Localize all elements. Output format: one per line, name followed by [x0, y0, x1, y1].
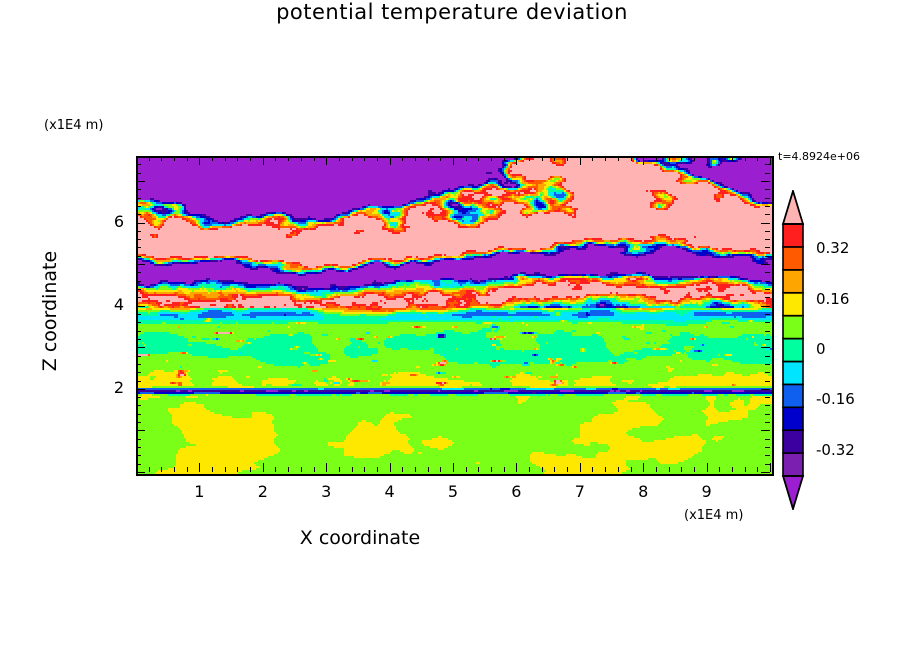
y-minor-tick-right: [765, 297, 770, 298]
timestamp-annotation: t=4.8924e+06: [778, 150, 860, 163]
y-major-tick-right: [761, 264, 770, 265]
y-minor-tick: [136, 364, 141, 365]
x-minor-tick: [656, 467, 657, 472]
x-minor-tick: [288, 467, 289, 472]
x-major-tick-top: [516, 156, 517, 165]
x-minor-tick: [554, 467, 555, 472]
x-major-tick: [643, 463, 644, 472]
x-minor-tick-top: [681, 156, 682, 161]
y-minor-tick-right: [765, 256, 770, 257]
y-minor-tick: [136, 447, 141, 448]
y-minor-tick-right: [765, 289, 770, 290]
x-minor-tick-top: [656, 156, 657, 161]
x-minor-tick-top: [440, 156, 441, 161]
y-minor-tick: [136, 397, 141, 398]
x-major-tick: [263, 463, 264, 472]
y-minor-tick-right: [765, 173, 770, 174]
x-minor-tick: [491, 467, 492, 472]
y-minor-tick: [136, 247, 141, 248]
x-minor-tick: [542, 467, 543, 472]
x-minor-tick: [415, 467, 416, 472]
y-minor-tick-right: [765, 405, 770, 406]
x-minor-tick: [149, 467, 150, 472]
y-major-tick: [136, 181, 145, 182]
y-minor-tick-right: [765, 198, 770, 199]
y-minor-tick: [136, 173, 141, 174]
x-minor-tick-top: [542, 156, 543, 161]
y-minor-tick-right: [765, 422, 770, 423]
y-major-tick-right: [761, 223, 770, 224]
y-minor-tick-right: [765, 281, 770, 282]
x-minor-tick-top: [592, 156, 593, 161]
y-major-tick-right: [761, 472, 770, 473]
x-minor-tick: [592, 467, 593, 472]
x-minor-tick-top: [605, 156, 606, 161]
x-minor-tick: [681, 467, 682, 472]
x-tick-label: 1: [179, 482, 219, 501]
colorbar-tick-label: -0.16: [816, 390, 855, 408]
y-major-tick: [136, 347, 145, 348]
x-minor-tick: [504, 467, 505, 472]
x-minor-tick-top: [554, 156, 555, 161]
y-minor-tick-right: [765, 464, 770, 465]
x-minor-tick: [618, 467, 619, 472]
x-minor-tick: [187, 467, 188, 472]
y-minor-tick: [136, 297, 141, 298]
x-major-tick-top: [199, 156, 200, 165]
x-major-tick-top: [770, 156, 771, 165]
x-minor-tick: [402, 467, 403, 472]
x-minor-tick-top: [732, 156, 733, 161]
x-minor-tick-top: [314, 156, 315, 161]
y-minor-tick: [136, 464, 141, 465]
y-minor-tick-right: [765, 364, 770, 365]
x-major-tick: [770, 463, 771, 472]
y-tick-label: 6: [84, 212, 124, 231]
y-minor-tick-right: [765, 331, 770, 332]
x-minor-tick: [732, 467, 733, 472]
y-minor-tick-right: [765, 272, 770, 273]
x-minor-tick: [174, 467, 175, 472]
x-minor-tick-top: [212, 156, 213, 161]
y-minor-tick-right: [765, 455, 770, 456]
x-minor-tick: [745, 467, 746, 472]
y-minor-tick: [136, 289, 141, 290]
x-major-tick: [516, 463, 517, 472]
y-minor-tick: [136, 214, 141, 215]
x-minor-tick-top: [478, 156, 479, 161]
y-minor-tick-right: [765, 372, 770, 373]
x-major-tick: [199, 463, 200, 472]
y-minor-tick: [136, 164, 141, 165]
x-minor-tick-top: [491, 156, 492, 161]
y-minor-tick: [136, 156, 141, 157]
x-minor-tick-top: [288, 156, 289, 161]
y-minor-tick-right: [765, 156, 770, 157]
x-tick-label: 3: [306, 482, 346, 501]
y-minor-tick: [136, 322, 141, 323]
x-tick-label: 9: [687, 482, 727, 501]
x-minor-tick: [669, 467, 670, 472]
y-minor-tick-right: [765, 164, 770, 165]
y-minor-tick: [136, 381, 141, 382]
x-minor-tick: [377, 467, 378, 472]
y-minor-tick-right: [765, 447, 770, 448]
y-minor-tick-right: [765, 356, 770, 357]
colorbar: [778, 190, 808, 510]
x-minor-tick-top: [187, 156, 188, 161]
y-minor-tick: [136, 405, 141, 406]
y-minor-tick-right: [765, 322, 770, 323]
x-minor-tick-top: [275, 156, 276, 161]
y-tick-label: 2: [84, 378, 124, 397]
x-tick-label: 2: [243, 482, 283, 501]
colorbar-tick-label: -0.32: [816, 441, 855, 459]
x-minor-tick: [275, 467, 276, 472]
y-axis-title: Z coordinate: [39, 201, 61, 421]
y-minor-tick-right: [765, 189, 770, 190]
x-minor-tick-top: [161, 156, 162, 161]
y-major-tick-right: [761, 347, 770, 348]
x-minor-tick: [440, 467, 441, 472]
x-minor-tick-top: [402, 156, 403, 161]
x-minor-tick: [466, 467, 467, 472]
x-major-tick: [390, 463, 391, 472]
y-minor-tick: [136, 189, 141, 190]
x-minor-tick-top: [377, 156, 378, 161]
y-minor-tick-right: [765, 339, 770, 340]
y-minor-tick-right: [765, 206, 770, 207]
y-minor-tick-right: [765, 239, 770, 240]
x-axis-title: X coordinate: [0, 527, 720, 549]
figure-title: potential temperature deviation: [0, 0, 904, 24]
x-major-tick-top: [580, 156, 581, 165]
x-minor-tick: [605, 467, 606, 472]
x-minor-tick-top: [301, 156, 302, 161]
y-minor-tick: [136, 439, 141, 440]
x-minor-tick-top: [745, 156, 746, 161]
x-minor-tick: [757, 467, 758, 472]
y-minor-tick: [136, 272, 141, 273]
x-tick-label: 7: [560, 482, 600, 501]
x-minor-tick: [250, 467, 251, 472]
y-major-tick-right: [761, 389, 770, 390]
x-major-tick: [326, 463, 327, 472]
x-minor-tick: [567, 467, 568, 472]
x-minor-tick: [225, 467, 226, 472]
x-minor-tick: [719, 467, 720, 472]
x-minor-tick-top: [364, 156, 365, 161]
x-major-tick-top: [263, 156, 264, 165]
x-tick-label: 5: [433, 482, 473, 501]
y-minor-tick: [136, 256, 141, 257]
x-minor-tick-top: [352, 156, 353, 161]
x-minor-tick-top: [504, 156, 505, 161]
y-minor-tick-right: [765, 314, 770, 315]
x-minor-tick-top: [428, 156, 429, 161]
x-major-tick: [580, 463, 581, 472]
x-minor-tick-top: [339, 156, 340, 161]
colorbar-tick-label: 0.16: [816, 290, 849, 308]
colorbar-tick-label: 0.32: [816, 239, 849, 257]
y-axis-unit-label: (x1E4 m): [44, 118, 103, 133]
x-minor-tick: [478, 467, 479, 472]
y-minor-tick: [136, 281, 141, 282]
y-major-tick-right: [761, 430, 770, 431]
x-minor-tick: [339, 467, 340, 472]
y-major-tick: [136, 430, 145, 431]
y-minor-tick: [136, 331, 141, 332]
y-minor-tick: [136, 231, 141, 232]
x-minor-tick: [314, 467, 315, 472]
y-minor-tick: [136, 455, 141, 456]
y-minor-tick-right: [765, 414, 770, 415]
x-minor-tick: [428, 467, 429, 472]
x-minor-tick: [237, 467, 238, 472]
y-minor-tick-right: [765, 381, 770, 382]
x-minor-tick: [352, 467, 353, 472]
x-minor-tick-top: [694, 156, 695, 161]
y-minor-tick: [136, 422, 141, 423]
x-minor-tick-top: [466, 156, 467, 161]
x-major-tick-top: [390, 156, 391, 165]
temperature-deviation-field: [138, 158, 772, 474]
x-minor-tick-top: [669, 156, 670, 161]
colorbar-tick-label: 0: [816, 340, 826, 358]
x-minor-tick-top: [225, 156, 226, 161]
x-minor-tick-top: [719, 156, 720, 161]
y-minor-tick: [136, 239, 141, 240]
x-minor-tick-top: [757, 156, 758, 161]
x-minor-tick: [161, 467, 162, 472]
x-major-tick: [453, 463, 454, 472]
x-minor-tick: [301, 467, 302, 472]
y-minor-tick: [136, 206, 141, 207]
figure-canvas: potential temperature deviation (x1E4 m)…: [0, 0, 904, 654]
x-minor-tick-top: [250, 156, 251, 161]
x-minor-tick-top: [631, 156, 632, 161]
y-major-tick: [136, 264, 145, 265]
x-minor-tick-top: [237, 156, 238, 161]
y-minor-tick-right: [765, 231, 770, 232]
x-tick-label: 4: [370, 482, 410, 501]
x-major-tick-top: [326, 156, 327, 165]
y-minor-tick: [136, 372, 141, 373]
contour-plot-area: [136, 156, 774, 476]
x-minor-tick: [631, 467, 632, 472]
y-minor-tick: [136, 198, 141, 199]
x-minor-tick: [364, 467, 365, 472]
x-minor-tick: [529, 467, 530, 472]
y-major-tick-right: [761, 181, 770, 182]
x-major-tick: [707, 463, 708, 472]
colorbar-gradient: [778, 190, 808, 510]
y-tick-label: 4: [84, 295, 124, 314]
x-minor-tick: [212, 467, 213, 472]
y-minor-tick: [136, 356, 141, 357]
y-minor-tick: [136, 339, 141, 340]
x-tick-label: 8: [623, 482, 663, 501]
y-minor-tick: [136, 314, 141, 315]
x-axis-unit-label: (x1E4 m): [684, 508, 743, 523]
y-minor-tick-right: [765, 247, 770, 248]
y-minor-tick-right: [765, 397, 770, 398]
y-major-tick: [136, 389, 145, 390]
x-minor-tick-top: [529, 156, 530, 161]
y-minor-tick: [136, 414, 141, 415]
y-major-tick: [136, 306, 145, 307]
x-major-tick-top: [707, 156, 708, 165]
x-minor-tick-top: [174, 156, 175, 161]
x-minor-tick-top: [567, 156, 568, 161]
x-minor-tick-top: [618, 156, 619, 161]
x-minor-tick: [694, 467, 695, 472]
y-major-tick: [136, 472, 145, 473]
y-major-tick: [136, 223, 145, 224]
y-minor-tick-right: [765, 214, 770, 215]
x-tick-label: 6: [496, 482, 536, 501]
y-minor-tick-right: [765, 439, 770, 440]
x-minor-tick-top: [149, 156, 150, 161]
x-major-tick-top: [453, 156, 454, 165]
x-minor-tick-top: [415, 156, 416, 161]
y-major-tick-right: [761, 306, 770, 307]
x-major-tick-top: [643, 156, 644, 165]
